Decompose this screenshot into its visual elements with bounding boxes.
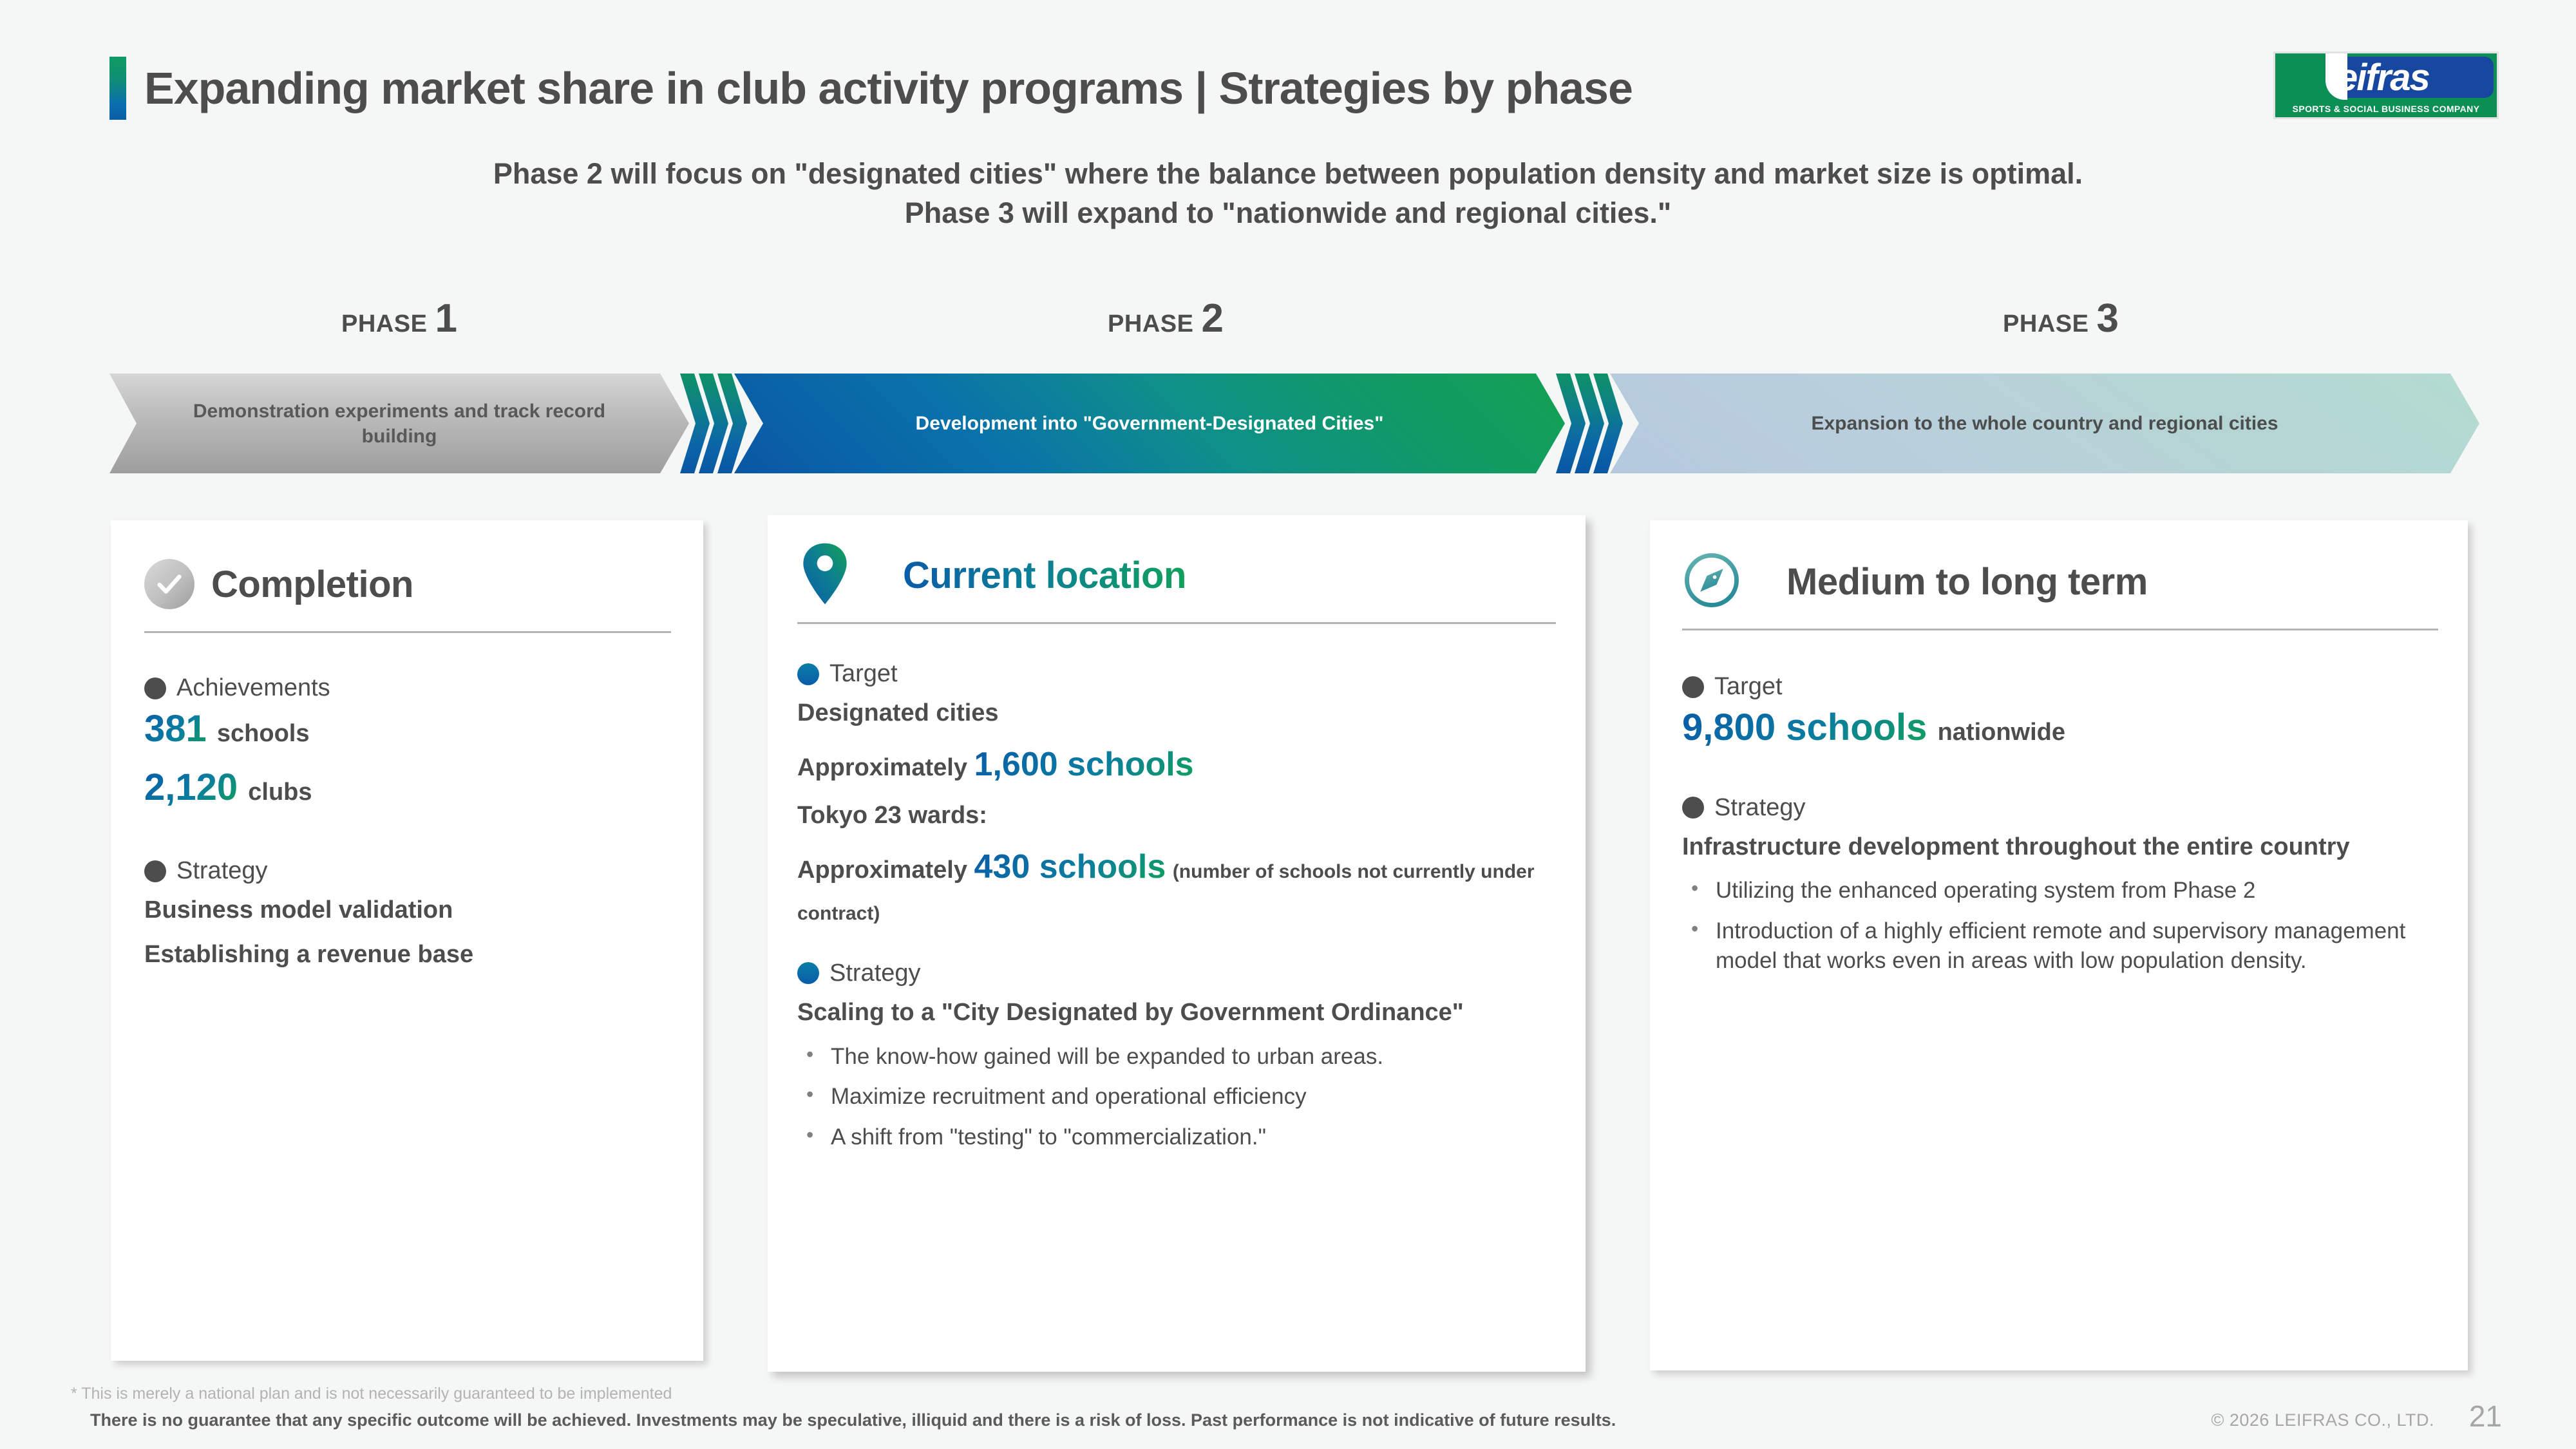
phase-arrow-band: Demonstration experiments and track reco… (109, 374, 2479, 473)
card-completion-title: Completion (211, 563, 413, 606)
disclaimer: There is no guarantee that any specific … (90, 1410, 1616, 1430)
slide-title-row: Expanding market share in club activity … (109, 57, 1633, 120)
strategy-bullet-list: Utilizing the enhanced operating system … (1682, 876, 2438, 976)
phase-banner-2-label: Development into "Government-Designated … (871, 411, 1429, 436)
target-label: Target (1714, 673, 1783, 701)
target-line-3: Tokyo 23 wards: (797, 797, 1556, 835)
stat-clubs-unit: clubs (248, 779, 312, 806)
stat-nationwide-unit: nationwide (1938, 719, 2065, 746)
strategy-label: Strategy (829, 960, 921, 987)
target-label: Target (829, 660, 898, 688)
strategy-statement: Infrastructure development throughout th… (1682, 828, 2438, 866)
strategy-marker: Strategy (797, 960, 1556, 987)
strategy-marker: Strategy (144, 857, 671, 885)
strategy-marker: Strategy (1682, 794, 2438, 822)
target-line-1: Designated cities (797, 694, 1556, 732)
phase-label-2: PHASE 2 (1108, 303, 1224, 338)
achievements-marker: Achievements (144, 674, 671, 702)
strategy-statement-1: Business model validation (144, 891, 671, 929)
phase-banner-1[interactable]: Demonstration experiments and track reco… (109, 374, 689, 473)
copyright: © 2026 LEIFRAS CO., LTD. (2211, 1410, 2434, 1430)
slide: Expanding market share in club activity … (0, 0, 2576, 1449)
target-line-4: Approximately 430 schools (number of sch… (797, 841, 1556, 931)
phase-number-3: 3 (2096, 303, 2118, 335)
phase-banner-2[interactable]: Development into "Government-Designated … (734, 374, 1565, 473)
list-item: Introduction of a highly efficient remot… (1682, 916, 2438, 976)
phase-banner-3[interactable]: Expansion to the whole country and regio… (1610, 374, 2479, 473)
phase-label-1: PHASE 1 (341, 303, 457, 338)
stat-clubs: 2,120 clubs (144, 764, 671, 811)
phase-word-1: PHASE (341, 310, 427, 338)
subtitle-line-1: Phase 2 will focus on "designated cities… (0, 155, 2576, 194)
phase-number-1: 1 (435, 303, 457, 335)
footnote: * This is merely a national plan and is … (71, 1385, 672, 1403)
page-number: 21 (2469, 1399, 2502, 1434)
strategy-statement-2: Establishing a revenue base (144, 936, 671, 974)
slide-subtitle: Phase 2 will focus on "designated cities… (0, 155, 2576, 233)
stat-clubs-value: 2,120 (144, 766, 238, 808)
card-medium-long-term-title: Medium to long term (1786, 560, 2148, 603)
card-medium-long-term-header: Medium to long term (1682, 544, 2438, 620)
phase-banner-3-label: Expansion to the whole country and regio… (1766, 411, 2323, 436)
company-logo: eifras SPORTS & SOCIAL BUSINESS COMPANY (2273, 52, 2499, 119)
list-item: Maximize recruitment and operational eff… (797, 1082, 1556, 1112)
list-item: The know-how gained will be expanded to … (797, 1042, 1556, 1072)
target-line-2-prefix: Approximately (797, 754, 967, 781)
subtitle-line-2: Phase 3 will expand to "nationwide and r… (0, 194, 2576, 233)
bullet-dot-icon (797, 663, 819, 685)
strategy-statement: Scaling to a "City Designated by Governm… (797, 994, 1556, 1032)
phase-label-3: PHASE 3 (2003, 303, 2119, 338)
title-accent-bar (109, 57, 126, 120)
logo-wordmark: eifras (2337, 55, 2497, 100)
target-line-4-value: 430 schools (974, 848, 1166, 885)
card-current-location[interactable]: Current location Target Designated citie… (768, 515, 1586, 1372)
strategy-label: Strategy (176, 857, 268, 885)
card-current-location-header: Current location (797, 537, 1556, 613)
logo-tagline: SPORTS & SOCIAL BUSINESS COMPANY (2293, 104, 2480, 114)
logo-top-band: eifras (2275, 53, 2497, 100)
page-title: Expanding market share in club activity … (144, 62, 1633, 114)
target-marker: Target (1682, 673, 2438, 701)
card-current-location-title: Current location (903, 554, 1186, 597)
card-completion[interactable]: Completion Achievements 381 schools 2,12… (111, 520, 703, 1361)
stat-nationwide: 9,800 schools nationwide (1682, 705, 2438, 752)
bullet-dot-icon (1682, 797, 1704, 819)
achievements-label: Achievements (176, 674, 330, 702)
bullet-dot-icon (144, 860, 166, 882)
compass-icon (1682, 551, 1741, 613)
list-item: A shift from "testing" to "commercializa… (797, 1122, 1556, 1153)
strategy-bullet-list: The know-how gained will be expanded to … (797, 1042, 1556, 1153)
target-line-2-value: 1,600 schools (974, 746, 1194, 783)
phase-number-2: 2 (1201, 303, 1223, 335)
bullet-dot-icon (1682, 676, 1704, 698)
phase-word-2: PHASE (1108, 310, 1193, 338)
target-marker: Target (797, 660, 1556, 688)
stat-schools: 381 schools (144, 706, 671, 753)
card-completion-header: Completion (144, 546, 671, 622)
check-badge-icon (144, 559, 194, 609)
target-line-4-prefix: Approximately (797, 857, 967, 884)
stat-nationwide-value: 9,800 schools (1682, 706, 1927, 748)
phase-word-3: PHASE (2003, 310, 2088, 338)
stat-schools-unit: schools (217, 720, 310, 747)
stat-schools-value: 381 (144, 708, 207, 750)
strategy-label: Strategy (1714, 794, 1806, 822)
phase-label-row: PHASE 1 PHASE 2 PHASE 3 (109, 303, 2479, 354)
bullet-dot-icon (144, 677, 166, 699)
map-pin-icon (797, 542, 853, 609)
phase-banner-1-label: Demonstration experiments and track reco… (109, 399, 689, 449)
card-medium-long-term[interactable]: Medium to long term Target 9,800 schools… (1650, 520, 2468, 1370)
target-line-2: Approximately 1,600 schools (797, 739, 1556, 791)
bullet-dot-icon (797, 962, 819, 984)
logo-tagline-band: SPORTS & SOCIAL BUSINESS COMPANY (2275, 100, 2497, 117)
list-item: Utilizing the enhanced operating system … (1682, 876, 2438, 906)
